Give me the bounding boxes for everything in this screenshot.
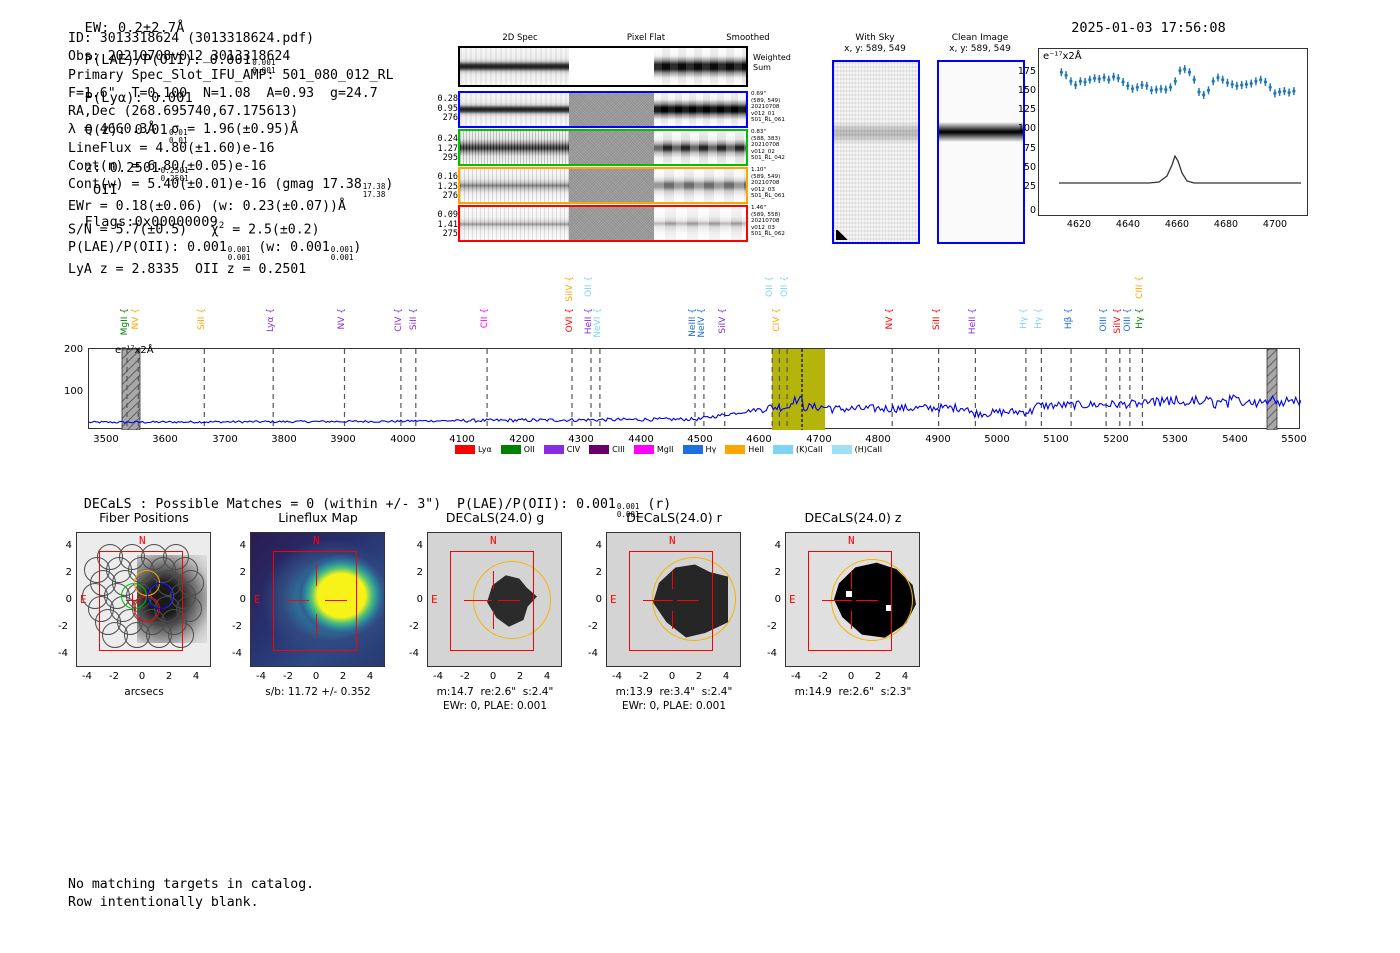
zs-ytick-75: 75 [1012,143,1036,154]
dg-xtick-2: 2 [508,671,532,682]
info-ewr: EWr = 0.18(±0.06) (w: 0.23(±0.07))Å [68,198,394,216]
line-label-siiv-26: SiIV { [1114,308,1123,334]
zs-ytick-150: 150 [1012,85,1036,96]
fiber-row-3-meta: 1.10" (589, 549) 20210708 v012_03 501_RL… [751,167,785,200]
legend-swatch-0 [455,445,475,454]
col-title-smoothed: Smoothed [693,33,803,43]
decals-z-image: N E [785,532,920,667]
dr-ytick-4: 4 [584,540,602,551]
legend-swatch-5 [683,445,703,454]
line-label-heii-21: HeII { [969,308,978,334]
zs-xtick-4640: 4640 [1111,219,1145,230]
dz-xtick-m2: -2 [811,671,835,682]
fp-ytick-0: 0 [54,594,72,605]
fiber-row-2-meta: 0.83" (588, 383) 20210708 v012_02 501_RL… [751,129,785,162]
fiber-positions-xlabel: arcsecs [64,686,224,698]
legend-swatch-1 [501,445,521,454]
lineflux-map-east: E [254,593,261,606]
dr-ytick-m2: -2 [580,621,598,632]
fp-xtick-m2: -2 [102,671,126,682]
fullspec-ytick-100: 100 [64,386,83,397]
decals-g-image: N E [427,532,562,667]
dz-xtick-4: 4 [893,671,917,682]
cutout-clean-image-title: Clean Imagex, y: 589, 549 [925,33,1035,55]
line-label-siiv-15: SiIV { [719,308,728,334]
zoomspec-canvas [1039,49,1309,217]
decals-z-north: N [848,534,855,547]
zs-ytick-100: 100 [1012,123,1036,134]
line-label-civ-5: CIV { [395,308,404,332]
fiber-2-smoothed [654,131,746,164]
info-gmag-range: 17.3817.38 [363,183,386,198]
legend-label-2: CIV [567,445,580,454]
dg-ytick-m2: -2 [401,621,419,632]
line-label-siii-6: SiII { [410,308,419,330]
line-label-ovi-9: OVI { [566,308,575,332]
panel-decals-r-title: DECaLS(24.0) r [594,510,754,525]
legend-swatch-4 [634,445,654,454]
info-snr-chi2: S/N = 5.7(±0.5) χ2 = 2.5(±0.2) [68,217,394,240]
legend-item-oii: OII [501,445,535,454]
fullspec-xtick-5500: 5500 [1274,434,1314,445]
dg-ytick-2: 2 [405,567,423,578]
legend-swatch-2 [544,445,564,454]
panel-decals-r: DECaLS(24.0) r N E 4 2 0 -2 -4 -4 -2 0 2… [594,510,754,720]
zs-xtick-4680: 4680 [1209,219,1243,230]
fiber-row-4-values: 0.091.41275 [432,211,458,240]
legend-label-3: CIII [612,445,625,454]
decals-r-north: N [669,534,676,547]
line-label-hγ-22: Hγ { [1020,308,1029,329]
fiber-circle-blue [147,583,173,609]
legend-swatch-3 [589,445,609,454]
dg-xtick-4: 4 [535,671,559,682]
legend-label-0: Lyα [478,445,492,454]
panel-lineflux-map-title: Lineflux Map [238,510,398,525]
dz-xtick-2: 2 [866,671,890,682]
fiber-2-raw [460,131,569,164]
legend-item-kcaii: (K)CaII [773,445,823,454]
legend-item-mgii: MgII [634,445,674,454]
zs-xtick-4620: 4620 [1062,219,1096,230]
fullspec-xtick-3600: 3600 [145,434,185,445]
fullspec-xtick-5300: 5300 [1155,434,1195,445]
line-label-cii-7: CII { [481,308,490,328]
fiber-4-smoothed [654,207,746,240]
info-redshifts: LyA z = 2.8335 OII z = 0.2501 [68,261,394,279]
fiber-circle [168,622,194,648]
legend-swatch-8 [832,445,852,454]
line-label-oii-17: OII { [781,276,790,297]
line-label-ciii-28: CIII { [1136,276,1145,299]
col-title-pixelflat: Pixel Flat [586,33,706,43]
legend-item-hγ: Hγ [683,445,717,454]
fullspec-xtick-4500: 4500 [680,434,720,445]
fiber-2-flat [569,131,655,164]
fp-ytick-4: 4 [54,540,72,551]
fp-ytick-2: 2 [54,567,72,578]
dr-xtick-4: 4 [714,671,738,682]
weighted-sum-raw [460,48,569,85]
dz-ytick-2: 2 [763,567,781,578]
fullspec-xtick-5200: 5200 [1096,434,1136,445]
legend-label-7: (K)CaII [796,445,823,454]
legend-label-1: OII [524,445,535,454]
info-lineflux: LineFlux = 4.80(±1.60)e-16 [68,140,394,158]
weighted-sum-smoothed [654,48,746,85]
panel-fiber-positions-title: Fiber Positions [64,510,224,525]
line-label-civ-18: CIV { [773,308,782,332]
dr-ytick-m4: -4 [580,648,598,659]
weighted-sum-label: Weighted Sum [753,53,791,73]
decals-g-north: N [490,534,497,547]
zs-ytick-125: 125 [1012,104,1036,115]
zs-ytick-50: 50 [1012,162,1036,173]
dz-ytick-0: 0 [763,594,781,605]
fullspec-ytick-200: 200 [64,344,83,355]
legend-swatch-6 [725,445,745,454]
line-label-nv-19: NV { [886,308,895,329]
dz-ytick-m4: -4 [759,648,777,659]
lfm-xtick-4: 4 [358,671,382,682]
line-label-oiii-27: OIII { [1124,308,1133,332]
fiber-1-flat [569,93,655,126]
zs-xtick-4700: 4700 [1258,219,1292,230]
fp-ytick-m4: -4 [50,648,68,659]
legend-label-8: (H)CaII [855,445,882,454]
fullspec-xtick-5400: 5400 [1215,434,1255,445]
fiber-3-flat [569,169,655,202]
fiber-row-2-values: 0.241.27295 [432,135,458,164]
line-label-hγ-23: Hγ { [1035,308,1044,329]
cutout-corner-marker [836,230,850,240]
legend-item-heii: HeII [725,445,764,454]
legend-label-6: HeII [748,445,764,454]
fullspec-xtick-3900: 3900 [323,434,363,445]
line-label-siii-20: SiII { [933,308,942,330]
fullspec-xtick-3800: 3800 [264,434,304,445]
decals-r-caption1: m:13.9 re:3.4" s:2.4" [594,686,754,698]
line-label-mgii-0: MgII { [121,308,130,335]
fiber-row-1-values: 0.280.95276 [432,95,458,124]
zs-ytick-25: 25 [1012,181,1036,192]
fullspec-xtick-4900: 4900 [918,434,958,445]
lfm-xtick-m4: -4 [249,671,273,682]
fullspec-xtick-4300: 4300 [561,434,601,445]
line-label-siiv-8: SiIV { [566,276,575,302]
fiber-positions-north: N [139,534,146,547]
dg-ytick-m4: -4 [401,648,419,659]
legend-item-civ: CIV [544,445,580,454]
fullspec-xtick-4000: 4000 [383,434,423,445]
lfm-ytick-4: 4 [228,540,246,551]
legend-item-ciii: CIII [589,445,625,454]
zs-xtick-4660: 4660 [1160,219,1194,230]
lineflux-map-north: N [313,534,320,547]
decals-z-east: E [789,593,796,606]
fullspec-xtick-4200: 4200 [502,434,542,445]
decals-g-redbox [450,551,534,651]
line-label-hγ-29: Hγ { [1136,308,1145,329]
fullspec-xtick-4800: 4800 [858,434,898,445]
panel-decals-g: DECaLS(24.0) g N E 4 2 0 -2 -4 -4 -2 0 2… [415,510,575,720]
fiber-2d-spectra-panel: 2D Spec Pixel Flat Smoothed Weighted Sum… [438,33,783,248]
lfm-ytick-m2: -2 [224,621,242,632]
fullspec-xtick-4400: 4400 [621,434,661,445]
dg-xtick-0: 0 [481,671,505,682]
lfm-xtick-m2: -2 [276,671,300,682]
dr-ytick-2: 2 [584,567,602,578]
footer-line-1: No matching targets in catalog. [68,876,314,894]
decals-g-caption1: m:14.7 re:2.6" s:2.4" [415,686,575,698]
line-label-nv-4: NV { [338,308,347,329]
panel-decals-z-title: DECaLS(24.0) z [773,510,933,525]
info-lambda-sigma: λ = 4660.3Å σ = 1.96(±0.95)Å [68,121,394,139]
spectrum-legend: LyαOIICIVCIIIMgIIHγHeII(K)CaII(H)CaII [455,445,891,454]
info-plae: P(LAE)/P(OII): 0.0010.0010.001 (w: 0.001… [68,239,394,261]
legend-item-hcaii: (H)CaII [832,445,882,454]
lfm-ytick-0: 0 [228,594,246,605]
line-label-hβ-24: Hβ { [1065,308,1074,329]
fullspec-units: e⁻¹⁷x2Å [115,345,154,356]
dg-xtick-m4: -4 [426,671,450,682]
line-label-siii-2: SiII { [198,308,207,330]
legend-item-lyα: Lyα [455,445,492,454]
decals-g-caption2: EWr: 0, PLAE: 0.001 [415,700,575,712]
fiber-row-1-meta: 0.69" (589, 549) 20210708 v012_01 501_RL… [751,91,785,124]
weighted-sum-row [458,46,748,87]
panel-decals-g-title: DECaLS(24.0) g [415,510,575,525]
fullspec-xtick-3700: 3700 [205,434,245,445]
line-label-neiv-14: NeIV { [698,308,707,338]
lfm-ytick-2: 2 [228,567,246,578]
dg-ytick-4: 4 [405,540,423,551]
fiber-row-1 [458,91,748,128]
fiber-1-smoothed [654,93,746,126]
dz-ytick-m2: -2 [759,621,777,632]
decals-z-caption1: m:14.9 re:2.6" s:2.3" [773,686,933,698]
weighted-sum-flat-blank [569,48,655,85]
lfm-xtick-2: 2 [331,671,355,682]
line-label-nevi-12: NeVI { [594,308,603,338]
report-datetime: 2025-01-03 17:56:08 [1071,20,1225,36]
info-cont-n: Cont(n) = 6.80(±0.05)e-16 [68,158,394,176]
fp-xtick-4: 4 [184,671,208,682]
decals-r-east: E [610,593,617,606]
info-cont-w: Cont(w) = 5.40(±0.01)e-16 (gmag 17.3817.… [68,176,394,198]
decals-r-image: N E [606,532,741,667]
line-label-nv-1: NV { [132,308,141,329]
dr-xtick-m4: -4 [605,671,629,682]
line-label-lyα-3: Lyα { [267,308,276,332]
lfm-ytick-m4: -4 [224,648,242,659]
fullspec-canvas [89,349,1301,430]
line-label-oii-10: OII { [585,276,594,297]
dg-xtick-m2: -2 [453,671,477,682]
fiber-1-raw [460,93,569,126]
fullspec-xtick-5000: 5000 [977,434,1017,445]
fullspec-xtick-4100: 4100 [442,434,482,445]
dz-xtick-m4: -4 [784,671,808,682]
footer-note: No matching targets in catalog. Row inte… [68,876,314,913]
info-obs: Obs: 20210708v012_3013318624 [68,48,394,66]
fullspec-xtick-4700: 4700 [799,434,839,445]
panel-decals-z: DECaLS(24.0) z N E 4 2 0 -2 -4 -4 -2 0 2… [773,510,933,720]
decals-g-east: E [431,593,438,606]
info-radec: RA,Dec (268.695740,67.175613) [68,103,394,121]
info-primary-spec: Primary Spec_Slot_IFU_AMP: 501_080_012_R… [68,67,394,85]
fiber-3-smoothed [654,169,746,202]
footer-line-2: Row intentionally blank. [68,894,314,912]
fiber-row-2 [458,129,748,166]
fiber-row-4-meta: 1.46" (589, 558) 20210708 v012_03 501_RL… [751,205,785,238]
dr-ytick-0: 0 [584,594,602,605]
legend-label-4: MgII [657,445,674,454]
full-spectrum-plot: e⁻¹⁷x2Å [88,348,1300,429]
detection-info-block: ID: 3013318624 (3013318624.pdf) Obs: 202… [68,30,394,280]
cutout-with-sky-title: With Skyx, y: 589, 549 [820,33,930,55]
fiber-row-3 [458,167,748,204]
info-plae-w-range: 0.0010.001 [331,246,354,261]
fiber-4-raw [460,207,569,240]
fiber-row-4 [458,205,748,242]
dr-xtick-2: 2 [687,671,711,682]
fiber-4-flat [569,207,655,240]
legend-swatch-7 [773,445,793,454]
col-title-2dspec: 2D Spec [460,33,580,43]
dg-ytick-0: 0 [405,594,423,605]
zs-ytick-175: 175 [1012,66,1036,77]
lineflux-map-caption: s/b: 11.72 +/- 0.352 [238,686,398,698]
info-id: ID: 3013318624 (3013318624.pdf) [68,30,394,48]
zs-ytick-0: 0 [1012,205,1036,216]
fullspec-xtick-3500: 3500 [86,434,126,445]
fullspec-xtick-5100: 5100 [1036,434,1076,445]
dr-xtick-0: 0 [660,671,684,682]
fullspec-xtick-4600: 4600 [739,434,779,445]
line-label-oii-16: OII { [766,276,775,297]
fp-ytick-m2: -2 [50,621,68,632]
fp-xtick-2: 2 [157,671,181,682]
fiber-positions-image: N E [76,532,211,667]
lfm-xtick-0: 0 [304,671,328,682]
info-seeing: F=1.6" T=0.100 N=1.08 A=0.93 g=24.7 [68,85,394,103]
dr-xtick-m2: -2 [632,671,656,682]
info-plae-range: 0.0010.001 [228,246,251,261]
panel-fiber-positions: Fiber Positions N E 4 2 0 -2 -4 -4 -2 0 … [64,510,224,710]
dz-ytick-4: 4 [763,540,781,551]
panel-lineflux-map: Lineflux Map N E 4 2 0 -2 -4 -4 -2 0 2 4… [238,510,398,710]
zoomed-emission-line-plot: e⁻¹⁷x2Å [1038,48,1308,216]
fp-xtick-0: 0 [130,671,154,682]
fp-xtick-m4: -4 [75,671,99,682]
dz-xtick-0: 0 [839,671,863,682]
line-label-oiii-25: OIII { [1100,308,1109,332]
cutout-with-sky-image [832,60,920,244]
fiber-row-3-values: 0.161.25276 [432,173,458,202]
lineflux-map-image: N E [250,532,385,667]
fiber-3-raw [460,169,569,202]
decals-r-caption2: EWr: 0, PLAE: 0.001 [594,700,754,712]
legend-label-5: Hγ [706,445,717,454]
